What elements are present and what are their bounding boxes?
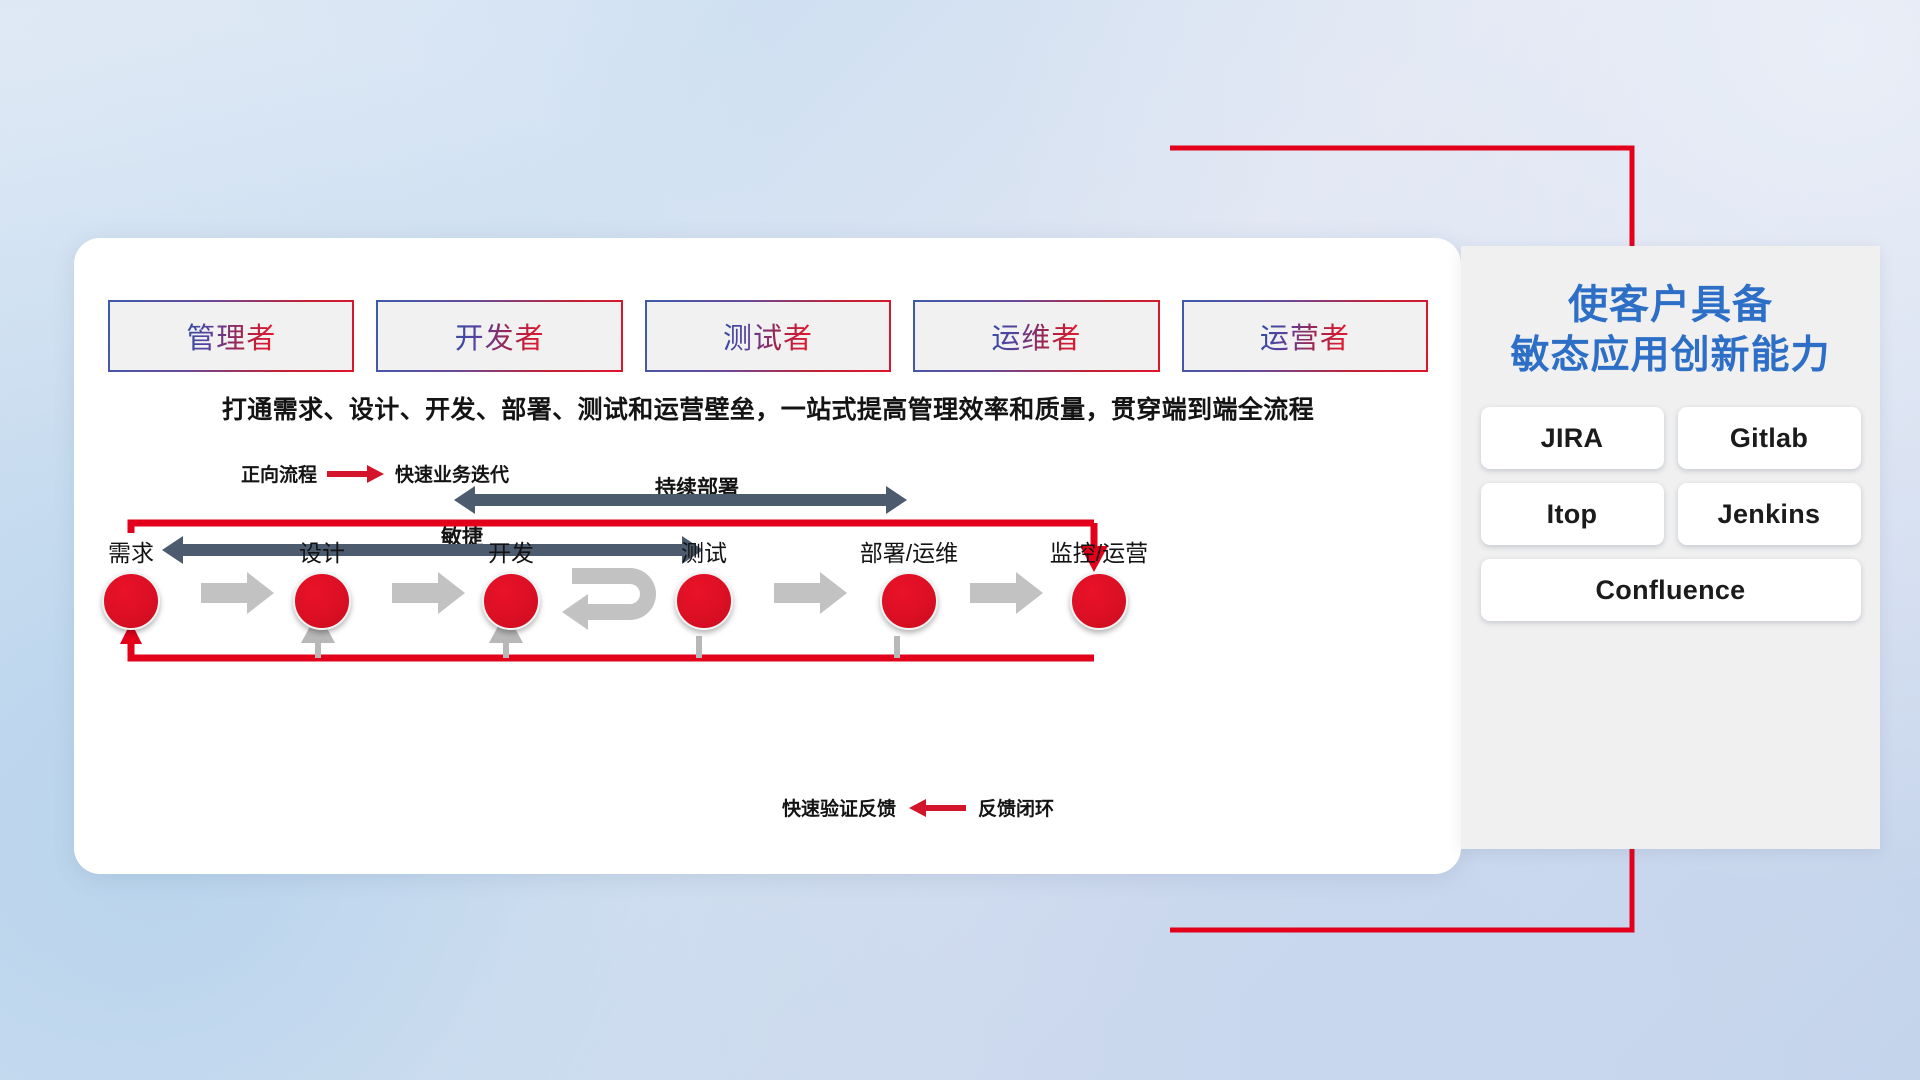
tool-button-confluence[interactable]: Confluence: [1481, 559, 1861, 621]
stage-dot: [880, 572, 938, 630]
panel-title-line1: 使客户具备: [1461, 280, 1880, 331]
arrow-left-icon: [908, 798, 966, 818]
tool-button-jira[interactable]: JIRA: [1481, 407, 1664, 469]
pipeline-stage-development[interactable]: 开发: [451, 534, 571, 630]
tool-label: Jenkins: [1718, 499, 1821, 530]
pipeline-stage-deploy-ops[interactable]: 部署/运维: [839, 534, 979, 630]
pipeline-stage-design[interactable]: 设计: [262, 534, 382, 630]
stage-dot: [1070, 572, 1128, 630]
capability-panel: 使客户具备 敏态应用创新能力 JIRA Gitlab Itop Jenkins …: [1461, 246, 1880, 849]
panel-title-line2: 敏态应用创新能力: [1461, 331, 1880, 381]
legend-feedback-loop: 快速验证反馈 反馈闭环: [782, 794, 1054, 821]
tool-button-gitlab[interactable]: Gitlab: [1678, 407, 1861, 469]
stage-label: 开发: [451, 534, 571, 568]
pipeline-stage-monitor-operations[interactable]: 监控/运营: [1029, 534, 1169, 630]
pipeline-stage-requirement[interactable]: 需求: [71, 534, 191, 630]
stage-dot: [675, 572, 733, 630]
devops-main-card: 管理者 开发者 测试者 运维者 运营者 打通需求、设计、开发、部署、测试和运营壁…: [74, 238, 1461, 874]
tool-list: JIRA Gitlab Itop Jenkins Confluence: [1471, 407, 1870, 621]
stage-label: 设计: [262, 534, 382, 568]
stage-dot: [293, 572, 351, 630]
stage-label: 需求: [71, 534, 191, 568]
tool-label: Itop: [1547, 499, 1598, 530]
panel-title: 使客户具备 敏态应用创新能力: [1461, 246, 1880, 381]
pipeline-stage-testing[interactable]: 测试: [644, 534, 764, 630]
stage-label: 测试: [644, 534, 764, 568]
legend-feedback-left-label: 快速验证反馈: [782, 794, 896, 821]
tool-label: JIRA: [1541, 423, 1604, 454]
tool-button-jenkins[interactable]: Jenkins: [1678, 483, 1861, 545]
stage-dot: [102, 572, 160, 630]
legend-feedback-right-label: 反馈闭环: [978, 794, 1054, 821]
stage-label: 部署/运维: [839, 534, 979, 568]
stage-dot: [482, 572, 540, 630]
stage-label: 监控/运营: [1029, 534, 1169, 568]
pipeline-stage-list: 需求 设计 开发 测试 部署/运维 监控/运营: [74, 238, 1461, 874]
tool-label: Confluence: [1595, 575, 1745, 606]
tool-button-itop[interactable]: Itop: [1481, 483, 1664, 545]
tool-label: Gitlab: [1730, 423, 1808, 454]
